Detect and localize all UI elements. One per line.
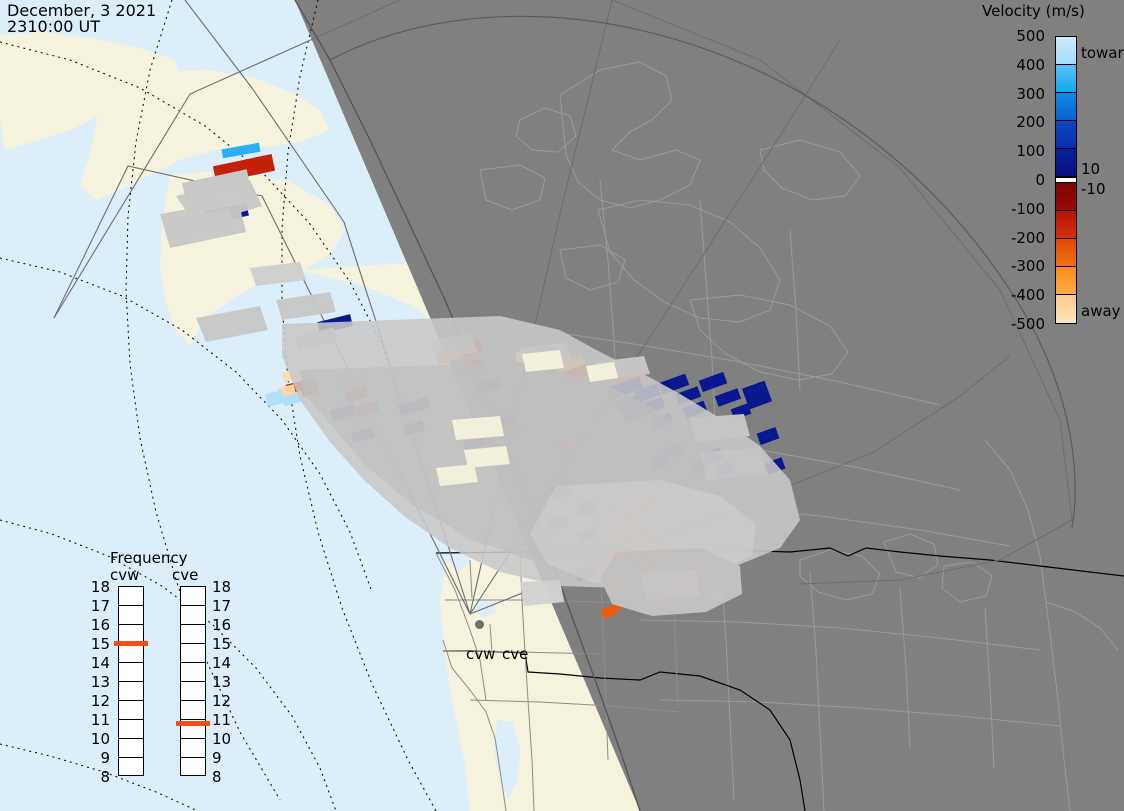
colorbar-tick-label: 500 [983,27,1045,45]
frequency-tick-label: 14 [212,654,236,672]
frequency-cell [119,701,143,720]
colorbar-tick-label: 400 [983,56,1045,74]
frequency-tick-label: 17 [86,597,110,615]
colorbar-segment[interactable] [1056,121,1076,149]
frequency-tick-label: 16 [212,616,236,634]
frequency-tick-label: 18 [212,578,236,596]
colorbar-segment[interactable] [1056,149,1076,177]
colorbar-upper-threshold-label: 10 [1081,160,1100,178]
frequency-cell [181,663,205,682]
colorbar-away-label: away [1081,302,1121,320]
colorbar-toward-label: toward [1081,44,1124,62]
radar-site-marker[interactable] [475,620,484,629]
colorbar-tick-label: -500 [983,315,1045,333]
radar-site-label-cve[interactable]: cve [502,645,528,663]
frequency-tick-label: 13 [212,673,236,691]
frequency-cell [181,625,205,644]
frequency-cell [119,758,143,777]
map-canvas[interactable]: 330 m/s-150 m/s0 m/s60 m/s0 m/s60 m/s0 m… [0,0,1124,811]
colorbar-segment[interactable] [1056,211,1076,239]
colorbar-tick-label: 100 [983,142,1045,160]
frequency-cell [119,739,143,758]
frequency-cell [181,701,205,720]
frequency-tick-label: 8 [86,768,110,786]
frequency-cell [119,606,143,625]
frequency-tick-label: 15 [86,635,110,653]
frequency-legend-title: Frequency [110,549,188,567]
colorbar-tick-label: -400 [983,286,1045,304]
frequency-tick-label: 16 [86,616,110,634]
colorbar-tick-label: 200 [983,113,1045,131]
frequency-tick-label: 17 [212,597,236,615]
frequency-cell [119,663,143,682]
frequency-cell [119,587,143,606]
frequency-tick-label: 11 [86,711,110,729]
frequency-tick-label: 15 [212,635,236,653]
colorbar-segment[interactable] [1056,65,1076,93]
frequency-cell [181,758,205,777]
frequency-tick-label: 10 [212,730,236,748]
frequency-cell [119,644,143,663]
colorbar-segment[interactable] [1056,295,1076,323]
frequency-tick-label: 13 [86,673,110,691]
frequency-tick-label: 18 [86,578,110,596]
superdarn-map-view: 330 m/s-150 m/s0 m/s60 m/s0 m/s60 m/s0 m… [0,0,1124,811]
frequency-cell [181,644,205,663]
radar-site-label-cvw[interactable]: cvw [466,645,495,663]
frequency-cell [181,587,205,606]
frequency-column-label-cve: cve [172,566,198,584]
colorbar-segment[interactable] [1056,267,1076,295]
colorbar-lower-threshold-label: -10 [1081,180,1106,198]
frequency-tick-label: 9 [86,749,110,767]
colorbar-title: Velocity (m/s) [982,2,1085,20]
frequency-bar-cve[interactable] [180,586,206,776]
colorbar-tick-label: -300 [983,257,1045,275]
colorbar-tick-label: -100 [983,200,1045,218]
frequency-tick-label: 8 [212,768,236,786]
frequency-tick-label: 11 [212,711,236,729]
colorbar-segment[interactable] [1056,93,1076,121]
velocity-colorbar[interactable] [1055,36,1077,324]
frequency-bar-cvw[interactable] [118,586,144,776]
frequency-cell [119,720,143,739]
frequency-cell [181,606,205,625]
colorbar-tick-label: -200 [983,229,1045,247]
frequency-cell [181,682,205,701]
frequency-tick-label: 10 [86,730,110,748]
frequency-cell [181,739,205,758]
frequency-tick-label: 14 [86,654,110,672]
frequency-tick-label: 12 [212,692,236,710]
colorbar-segment[interactable] [1056,239,1076,267]
frequency-marker-cvw [114,641,148,646]
frequency-tick-label: 9 [212,749,236,767]
colorbar-tick-label: 300 [983,85,1045,103]
colorbar-tick-label: 0 [983,171,1045,189]
frequency-cell [119,682,143,701]
colorbar-segment[interactable] [1056,37,1076,65]
day-side-region: 330 m/s-150 m/s0 m/s60 m/s0 m/s60 m/s0 m… [0,0,1124,811]
frequency-marker-cve [176,721,210,726]
frequency-column-label-cvw: cvw [110,566,139,584]
frequency-tick-label: 12 [86,692,110,710]
colorbar-segment[interactable] [1056,183,1076,211]
time-label: 2310:00 UT [7,18,100,35]
